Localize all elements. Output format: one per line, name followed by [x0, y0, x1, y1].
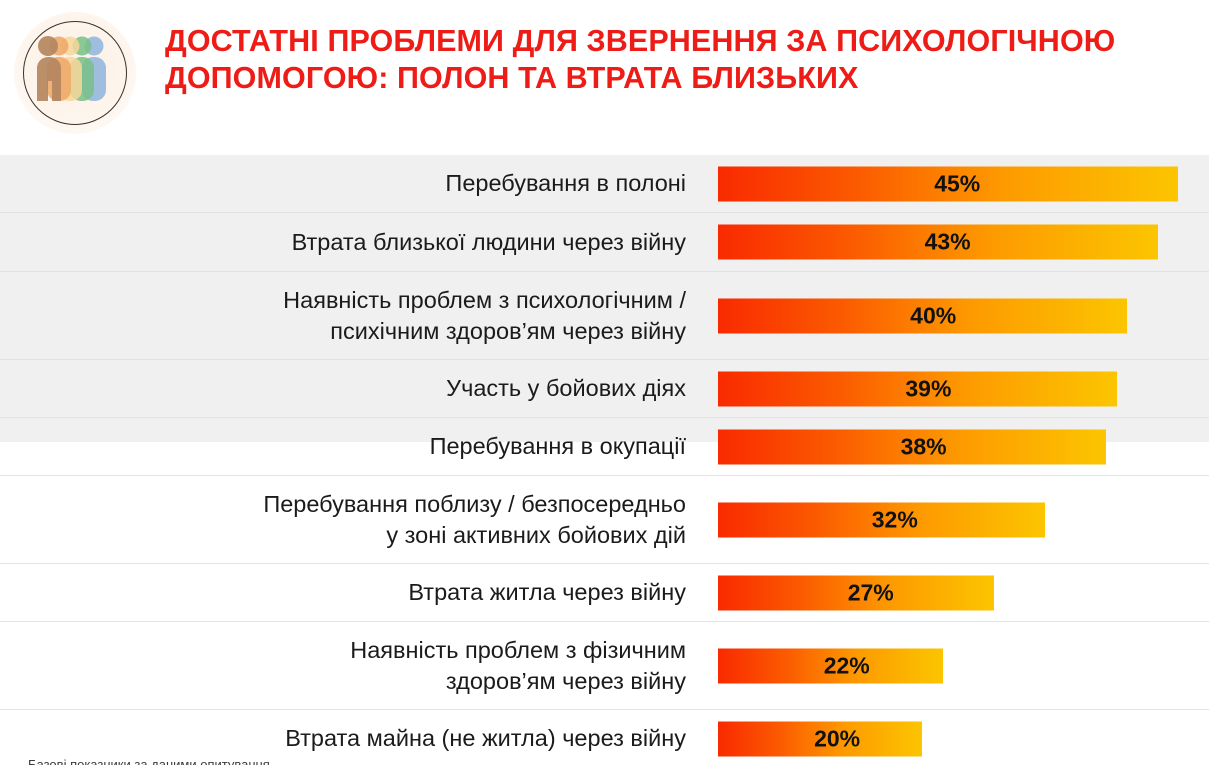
row-label: Перебування в окупації [0, 431, 700, 462]
table-row: Перебування в окупації38% [0, 418, 1209, 476]
bar-track: 22% [700, 622, 1209, 709]
table-row: Перебування поблизу / безпосередньо у зо… [0, 476, 1209, 564]
row-label: Втрата близької людини через війну [0, 227, 700, 258]
row-label: Наявність проблем з фізичним здоров’ям ч… [0, 635, 700, 697]
bar-value-label: 27% [848, 579, 894, 606]
bar-chart: Перебування в полоні45%Втрата близької л… [0, 155, 1209, 765]
row-label: Втрата житла через війну [0, 577, 700, 608]
bar-value-label: 45% [934, 170, 980, 197]
bar-value-label: 32% [872, 506, 918, 533]
row-label: Наявність проблем з психологічним / псих… [0, 285, 700, 347]
bar-track: 27% [700, 564, 1209, 621]
bar-value-label: 22% [824, 652, 870, 679]
logo-ring [23, 21, 127, 125]
bar-track: 38% [700, 418, 1209, 475]
logo [14, 12, 136, 134]
header: Достатні проблеми для звернення за психо… [0, 0, 1209, 155]
bar-value-label: 20% [814, 725, 860, 752]
infographic-page: Достатні проблеми для звернення за психо… [0, 0, 1209, 765]
table-row: Наявність проблем з психологічним / псих… [0, 272, 1209, 360]
bar-track: 43% [700, 213, 1209, 271]
table-row: Участь у бойових діях39% [0, 360, 1209, 418]
footnote: Базові показники за даними опитування [0, 757, 1209, 765]
row-label: Перебування в полоні [0, 168, 700, 199]
bar-value-label: 39% [905, 375, 951, 402]
table-row: Наявність проблем з фізичним здоров’ям ч… [0, 622, 1209, 710]
row-label: Участь у бойових діях [0, 373, 700, 404]
bar-track: 40% [700, 272, 1209, 359]
page-title: Достатні проблеми для звернення за психо… [165, 23, 1185, 97]
row-label: Втрата майна (не житла) через війну [0, 723, 700, 754]
bar-track: 45% [700, 155, 1209, 212]
bar-track: 39% [700, 360, 1209, 417]
bar-value-label: 40% [910, 302, 956, 329]
bar-value-label: 38% [901, 433, 947, 460]
row-label: Перебування поблизу / безпосередньо у зо… [0, 489, 700, 551]
table-row: Перебування в полоні45% [0, 155, 1209, 213]
bar-value-label: 43% [925, 229, 971, 256]
table-row: Втрата житла через війну27% [0, 564, 1209, 622]
table-row: Втрата близької людини через війну43% [0, 213, 1209, 272]
bar-track: 32% [700, 476, 1209, 563]
